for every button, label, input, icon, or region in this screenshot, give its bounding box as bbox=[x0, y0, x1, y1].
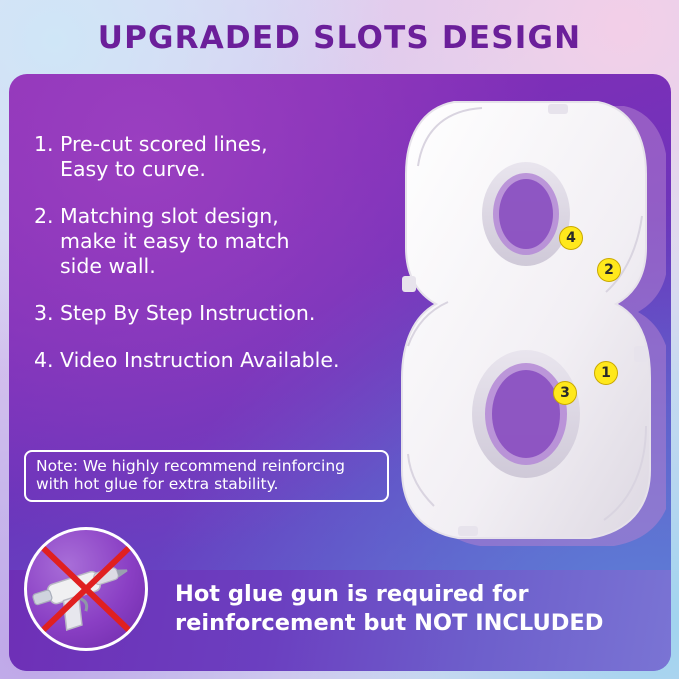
feature-list: 1. Pre-cut scored lines,Easy to curve. 2… bbox=[34, 132, 404, 395]
list-item-label: Pre-cut scored lines,Easy to curve. bbox=[60, 132, 404, 182]
callout-marker-3: 3 bbox=[553, 381, 577, 405]
list-item: 1. Pre-cut scored lines,Easy to curve. bbox=[34, 132, 404, 182]
banner-line-1: Hot glue gun is required for bbox=[175, 580, 645, 609]
callout-marker-4: 4 bbox=[559, 226, 583, 250]
note-box: Note: We highly recommend reinforcing wi… bbox=[24, 450, 389, 502]
list-item: 3. Step By Step Instruction. bbox=[34, 301, 404, 326]
callout-marker-1: 1 bbox=[594, 361, 618, 385]
list-item-number: 2. bbox=[34, 204, 60, 279]
banner-line-2: reinforcement but NOT INCLUDED bbox=[175, 609, 645, 638]
list-item-label: Video Instruction Available. bbox=[60, 348, 404, 373]
glue-gun-prohibited-icon bbox=[27, 530, 145, 648]
banner-line-2-prefix: reinforcement but bbox=[175, 610, 414, 636]
paper-number-eight-figure bbox=[398, 96, 666, 551]
banner-line-2-emphasis: NOT INCLUDED bbox=[414, 610, 603, 636]
list-item-label: Matching slot design,make it easy to mat… bbox=[60, 204, 404, 279]
list-item-number: 3. bbox=[34, 301, 60, 326]
banner-text: Hot glue gun is required for reinforceme… bbox=[175, 580, 645, 639]
product-infographic: UPGRADED SLOTS DESIGN bbox=[0, 0, 679, 679]
list-item: 4. Video Instruction Available. bbox=[34, 348, 404, 373]
list-item-number: 4. bbox=[34, 348, 60, 373]
list-item-label: Step By Step Instruction. bbox=[60, 301, 404, 326]
page-title: UPGRADED SLOTS DESIGN bbox=[0, 20, 679, 56]
list-item-number: 1. bbox=[34, 132, 60, 182]
callout-marker-2: 2 bbox=[597, 258, 621, 282]
list-item: 2. Matching slot design,make it easy to … bbox=[34, 204, 404, 279]
glue-gun-prohibited-badge bbox=[24, 527, 148, 651]
